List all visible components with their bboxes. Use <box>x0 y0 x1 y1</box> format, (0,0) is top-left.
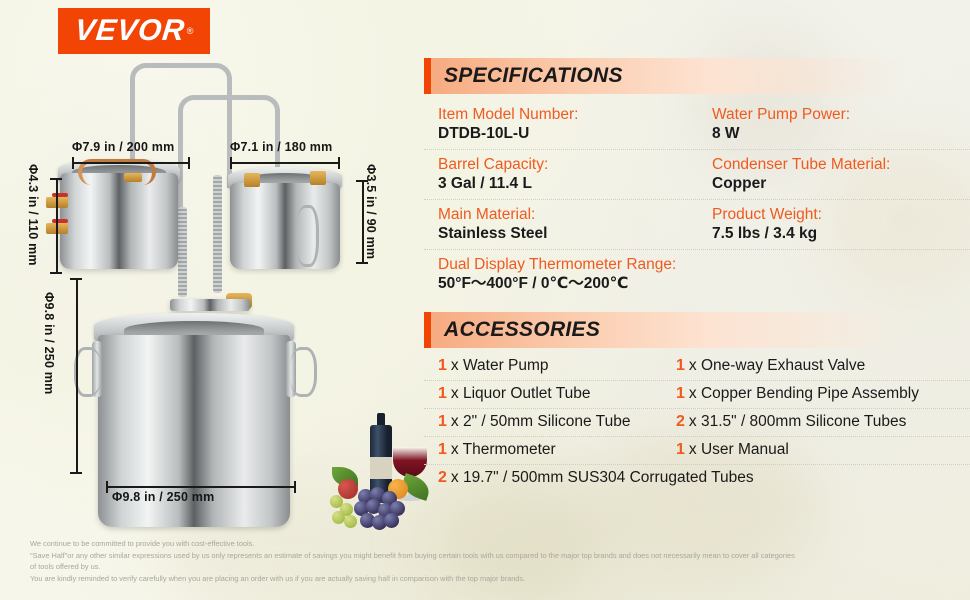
accessory-sus304-corrugated-tubes: 2 x 19.7" / 500mm SUS304 Corrugated Tube… <box>424 469 970 487</box>
accessory-qty: 1 <box>438 441 447 459</box>
accessory-copper-bending-pipe-assembly: 1 x Copper Bending Pipe Assembly <box>662 385 919 403</box>
product-spec-page: VEVOR® <box>0 0 970 600</box>
spec-key: Condenser Tube Material: <box>712 155 970 174</box>
specifications-title: SPECIFICATIONS <box>444 64 623 88</box>
spec-key: Barrel Capacity: <box>438 155 698 174</box>
dim-right-pot-diameter: Φ7.1 in / 180 mm <box>230 140 332 154</box>
spec-value: DTDB-10L-U <box>438 124 698 143</box>
accessory-name: x 31.5" / 800mm Silicone Tubes <box>689 413 906 431</box>
product-photo <box>0 55 418 525</box>
dim-left-pot-diameter: Φ7.9 in / 200 mm <box>72 140 174 154</box>
accessory-name: x 19.7" / 500mm SUS304 Corrugated Tubes <box>451 469 754 487</box>
accessory-qty: 1 <box>438 413 447 431</box>
accessory-name: x Thermometer <box>451 441 556 459</box>
accessory-name: x User Manual <box>689 441 789 459</box>
accessories-title: ACCESSORIES <box>444 318 600 342</box>
spec-thermometer-range: Dual Display Thermometer Range: 50°F～400… <box>424 255 970 293</box>
accessory-liquor-outlet-tube: 1 x Liquor Outlet Tube <box>424 385 662 403</box>
table-row: Barrel Capacity: 3 Gal / 11.4 L Condense… <box>424 150 970 200</box>
accessory-qty: 2 <box>676 413 685 431</box>
vevor-logo-text: VEVOR <box>73 14 187 48</box>
spec-product-weight: Product Weight: 7.5 lbs / 3.4 kg <box>698 205 970 243</box>
accessory-thermometer: 1 x Thermometer <box>424 441 662 459</box>
right-pot-body <box>230 183 340 269</box>
accessory-name: x Water Pump <box>451 357 549 375</box>
dim-barrel-height: Φ9.8 in / 250 mm <box>42 292 56 394</box>
right-valve-right <box>310 171 326 185</box>
table-row: Item Model Number: DTDB-10L-U Water Pump… <box>424 100 970 150</box>
spec-item-model-number: Item Model Number: DTDB-10L-U <box>424 105 698 143</box>
accessory-name: x 2" / 50mm Silicone Tube <box>451 413 631 431</box>
accessory-50mm-silicone-tube: 1 x 2" / 50mm Silicone Tube <box>424 413 662 431</box>
spec-main-material: Main Material: Stainless Steel <box>424 205 698 243</box>
footer-line: We continue to be committed to provide y… <box>30 538 940 550</box>
accessory-qty: 1 <box>676 385 685 403</box>
barrel-handle-left <box>74 347 101 397</box>
table-row: 1 x Liquor Outlet Tube 1 x Copper Bendin… <box>424 381 970 409</box>
registered-trademark-icon: ® <box>187 26 194 36</box>
spec-value: 3 Gal / 11.4 L <box>438 174 698 193</box>
barrel-handle-right <box>290 347 317 397</box>
accessory-water-pump: 1 x Water Pump <box>424 357 662 375</box>
table-row: 1 x 2" / 50mm Silicone Tube 2 x 31.5" / … <box>424 409 970 437</box>
spec-key: Item Model Number: <box>438 105 698 124</box>
spec-value: Stainless Steel <box>438 224 698 243</box>
accessory-one-way-exhaust-valve: 1 x One-way Exhaust Valve <box>662 357 900 375</box>
dim-barrel-diameter: Φ9.8 in / 250 mm <box>112 490 214 504</box>
spec-value: Copper <box>712 174 970 193</box>
table-row: 1 x Water Pump 1 x One-way Exhaust Valve <box>424 353 970 381</box>
table-row: Dual Display Thermometer Range: 50°F～400… <box>424 250 970 299</box>
accessory-name: x Copper Bending Pipe Assembly <box>689 385 919 403</box>
right-pot-handle <box>296 205 319 267</box>
accessory-name: x Liquor Outlet Tube <box>451 385 591 403</box>
accessory-qty: 1 <box>676 441 685 459</box>
accessory-qty: 1 <box>438 357 447 375</box>
spec-value: 7.5 lbs / 3.4 kg <box>712 224 970 243</box>
footer-line: of tools offered by us. <box>30 561 940 573</box>
accessories-header: ACCESSORIES <box>424 312 970 348</box>
footer-line: "Save Half"or any other similar expressi… <box>30 550 940 562</box>
dim-right-pot-height: Φ3.5 in / 90 mm <box>364 164 378 259</box>
spec-water-pump-power: Water Pump Power: 8 W <box>698 105 970 143</box>
spec-value: 50°F～400°F / 0℃～200℃ <box>438 274 970 293</box>
accessory-qty: 2 <box>438 469 447 487</box>
dim-left-pot-height: Φ4.3 in / 110 mm <box>26 164 40 266</box>
spec-key: Water Pump Power: <box>712 105 970 124</box>
specifications-header: SPECIFICATIONS <box>424 58 970 94</box>
spec-key: Product Weight: <box>712 205 970 224</box>
accessories-table: 1 x Water Pump 1 x One-way Exhaust Valve… <box>424 353 970 492</box>
spec-key: Main Material: <box>438 205 698 224</box>
accessory-800mm-silicone-tubes: 2 x 31.5" / 800mm Silicone Tubes <box>662 413 970 431</box>
left-pot-body <box>60 173 178 269</box>
spec-value: 8 W <box>712 124 970 143</box>
accessory-user-manual: 1 x User Manual <box>662 441 900 459</box>
spec-key: Dual Display Thermometer Range: <box>438 255 970 274</box>
right-valve-left <box>244 173 260 187</box>
spec-condenser-tube-material: Condenser Tube Material: Copper <box>698 155 970 193</box>
accessory-qty: 1 <box>438 385 447 403</box>
table-row: 1 x Thermometer 1 x User Manual <box>424 437 970 465</box>
vevor-logo: VEVOR® <box>58 8 210 54</box>
info-panel: SPECIFICATIONS Item Model Number: DTDB-1… <box>424 0 970 530</box>
specifications-table: Item Model Number: DTDB-10L-U Water Pump… <box>424 100 970 299</box>
spec-barrel-capacity: Barrel Capacity: 3 Gal / 11.4 L <box>424 155 698 193</box>
table-row: 2 x 19.7" / 500mm SUS304 Corrugated Tube… <box>424 465 970 492</box>
footer-line: You are kindly reminded to verify carefu… <box>30 573 940 585</box>
connector-bar <box>170 299 250 311</box>
accessory-qty: 1 <box>676 357 685 375</box>
table-row: Main Material: Stainless Steel Product W… <box>424 200 970 250</box>
accessory-name: x One-way Exhaust Valve <box>689 357 865 375</box>
footer-disclaimer: We continue to be committed to provide y… <box>30 538 940 584</box>
